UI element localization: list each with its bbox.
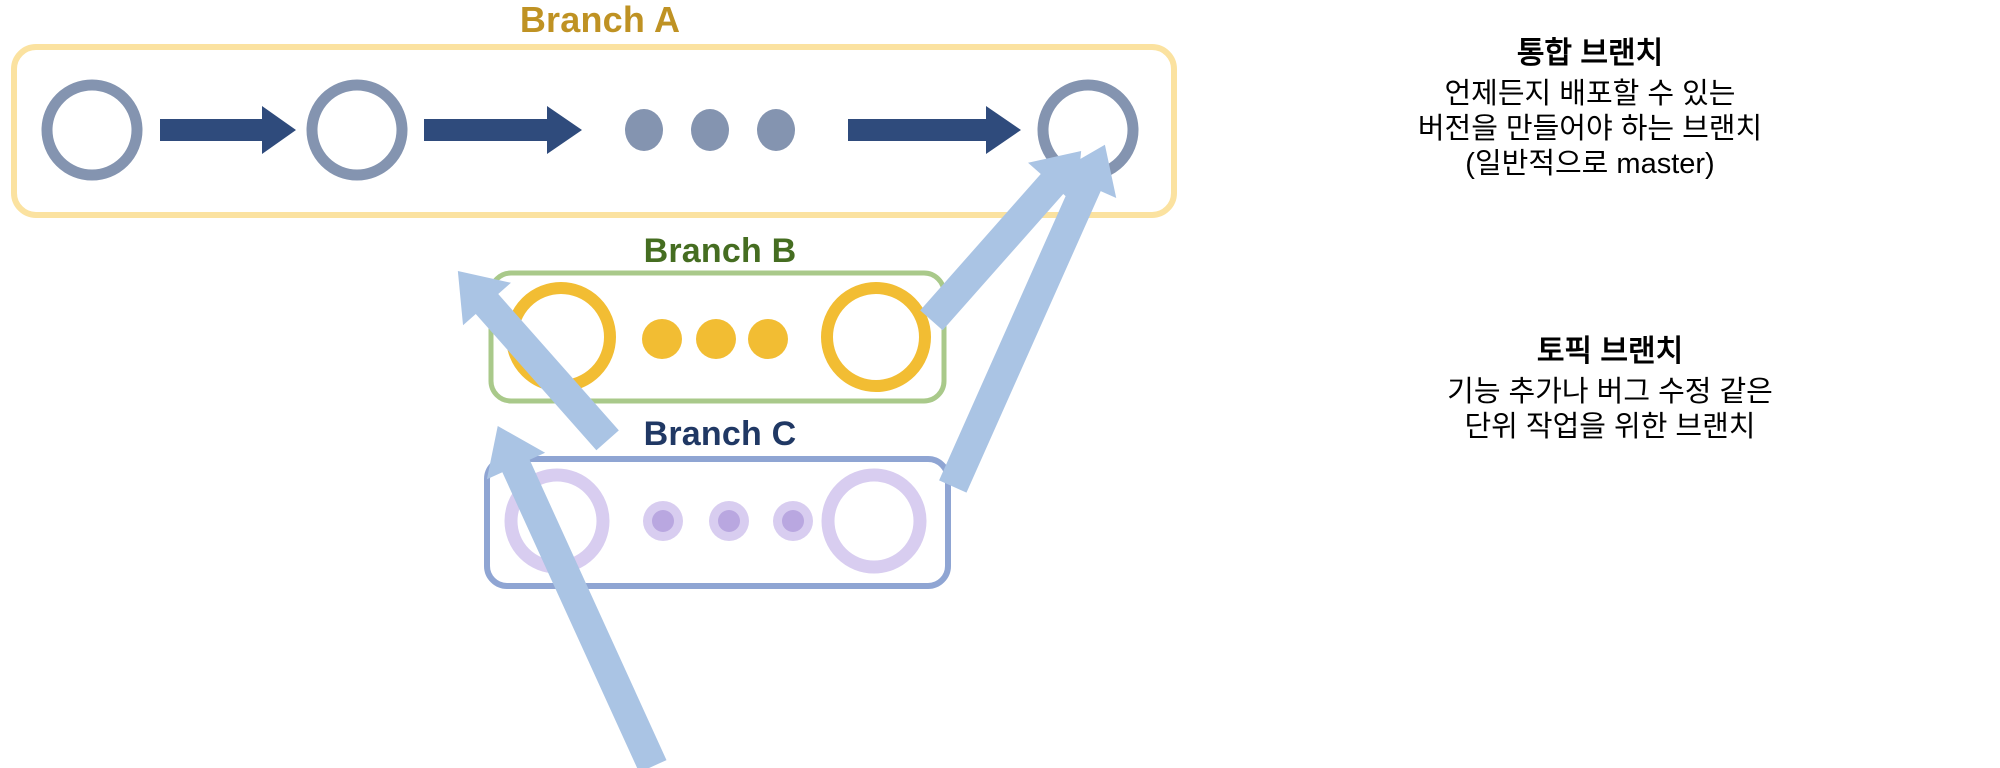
branch-c-ellipsis-dot-3-inner [782,510,804,532]
topic-note-line-2: 단위 작업을 위한 브랜치 [1230,410,1990,445]
branch-c-node-2 [828,475,920,567]
branch-b-ellipsis-dot-2 [696,319,736,359]
branch-b-title: Branch B [490,234,950,268]
topic-branch-note: 토픽 브랜치 기능 추가나 버그 수정 같은 단위 작업을 위한 브랜치 [1230,334,1990,445]
integration-note-heading: 통합 브랜치 [1190,36,1990,73]
topic-note-line-1: 기능 추가나 버그 수정 같은 [1230,375,1990,410]
integration-note-line-2: 버전을 만들어야 하는 브랜치 [1190,112,1990,147]
branch-a-node-1 [47,85,137,175]
integration-branch-note: 통합 브랜치 언제든지 배포할 수 있는 버전을 만들어야 하는 브랜치 (일반… [1190,36,1990,183]
branch-b-ellipsis-dot-3 [748,319,788,359]
branch-c-ellipsis-dot-1-inner [652,510,674,532]
integration-note-line-3: (일반적으로 master) [1190,147,1990,182]
merge-arrow-a-to-c [469,413,682,768]
branch-b-node-2 [827,288,925,386]
diagram-canvas: Branch A Branch B Branch C 통합 브랜치 언제든지 배… [0,0,2000,768]
flow-arrow-2 [424,106,582,154]
flow-arrow-1 [160,106,296,154]
branch-a-ellipsis-dot-2 [691,109,729,151]
branch-a-title: Branch A [0,2,1200,38]
branch-c-ellipsis-dot-2-inner [718,510,740,532]
topic-note-heading: 토픽 브랜치 [1230,334,1990,371]
flow-arrow-3 [848,106,1021,154]
branch-c-title: Branch C [490,417,950,451]
branch-c-ellipsis [643,501,813,541]
branch-a-ellipsis-dot-3 [757,109,795,151]
integration-note-line-1: 언제든지 배포할 수 있는 [1190,77,1990,112]
branch-a-flow-arrows [160,106,1021,154]
branch-b-ellipsis-dot-1 [642,319,682,359]
branch-a-node-2 [312,85,402,175]
branch-a-ellipsis-dot-1 [625,109,663,151]
